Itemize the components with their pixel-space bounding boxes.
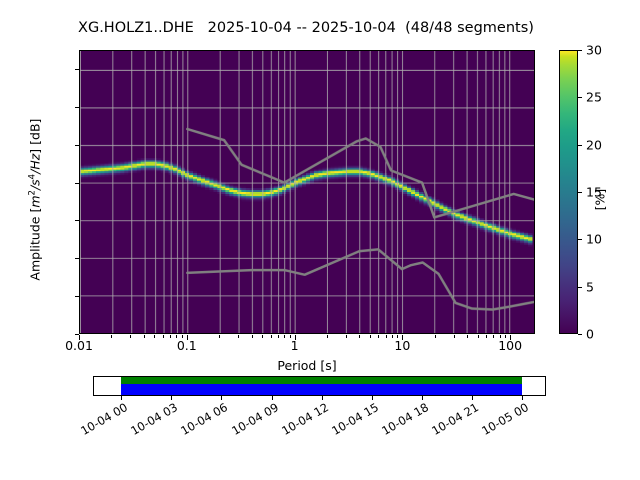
x-minor-tick	[386, 335, 387, 338]
timeline-tick-label: 10-04 09	[223, 400, 280, 441]
data-coverage-blue	[121, 384, 522, 395]
x-minor-tick	[435, 335, 436, 338]
data-coverage-timeline[interactable]	[93, 376, 546, 396]
timeline-tick-mark	[221, 396, 222, 400]
x-minor-tick	[163, 335, 164, 338]
timeline-tick-mark	[121, 396, 122, 400]
timeline-tick-label: 10-04 15	[324, 400, 381, 441]
colorbar-tick-mark	[578, 334, 582, 335]
x-minor-tick	[130, 335, 131, 338]
x-minor-tick	[392, 335, 393, 338]
x-minor-tick	[378, 335, 379, 338]
timeline-tick-mark	[171, 396, 172, 400]
x-minor-tick	[278, 335, 279, 338]
x-minor-tick	[182, 335, 183, 338]
timeline-tick-mark	[422, 396, 423, 400]
colorbar-tick-mark	[578, 145, 582, 146]
x-minor-tick	[359, 335, 360, 338]
colorbar-label: [%]	[593, 160, 608, 240]
x-tick-label: 0.01	[65, 338, 93, 353]
y-tick-mark	[75, 183, 79, 184]
x-minor-tick	[154, 335, 155, 338]
y-tick-mark	[75, 145, 79, 146]
x-minor-tick	[397, 335, 398, 338]
timeline-tick-label: 10-04 21	[424, 400, 481, 441]
colorbar-tick-mark	[578, 239, 582, 240]
data-coverage-green	[121, 377, 522, 384]
y-tick-mark	[75, 107, 79, 108]
x-tick-label: 1	[291, 338, 299, 353]
timeline-tick-mark	[322, 396, 323, 400]
x-minor-tick	[238, 335, 239, 338]
x-minor-tick	[262, 335, 263, 338]
timeline-tick-label: 10-04 03	[123, 400, 180, 441]
y-tick-mark	[75, 220, 79, 221]
x-minor-tick	[505, 335, 506, 338]
x-minor-tick	[290, 335, 291, 338]
y-axis-label: Amplitude [m2/s4/Hz] [dB]	[27, 70, 42, 330]
ppsd-figure: XG.HOLZ1..DHE 2025-10-04 -- 2025-10-04 (…	[0, 0, 640, 480]
x-minor-tick	[252, 335, 253, 338]
timeline-tick-label: 10-04 12	[274, 400, 331, 441]
ppsd-heatmap-canvas	[80, 51, 534, 333]
x-minor-tick	[284, 335, 285, 338]
x-axis-label: Period [s]	[79, 358, 535, 373]
page-title: XG.HOLZ1..DHE 2025-10-04 -- 2025-10-04 (…	[0, 20, 612, 36]
colorbar-tick-mark	[578, 50, 582, 51]
colorbar-tick-label: 25	[586, 90, 602, 105]
colorbar-tick-label: 20	[586, 137, 602, 152]
x-minor-tick	[271, 335, 272, 338]
x-minor-tick	[370, 335, 371, 338]
x-tick-label: 10	[394, 338, 410, 353]
y-tick-mark	[75, 69, 79, 70]
y-tick-mark	[75, 258, 79, 259]
colorbar-tick-mark	[578, 97, 582, 98]
timeline-tick-mark	[272, 396, 273, 400]
colorbar-tick-label: 30	[586, 43, 602, 58]
timeline-tick-mark	[472, 396, 473, 400]
x-minor-tick	[493, 335, 494, 338]
x-minor-tick	[111, 335, 112, 338]
x-tick-label: 100	[498, 338, 522, 353]
x-minor-tick	[467, 335, 468, 338]
x-minor-tick	[486, 335, 487, 338]
x-minor-tick	[500, 335, 501, 338]
x-minor-tick	[327, 335, 328, 338]
x-minor-tick	[346, 335, 347, 338]
timeline-tick-label: 10-05 00	[474, 400, 531, 441]
timeline-tick-label: 10-04 00	[73, 400, 130, 441]
colorbar-tick-mark	[578, 192, 582, 193]
ppsd-plot-area[interactable]	[79, 50, 535, 334]
timeline-tick-mark	[372, 396, 373, 400]
colorbar-tick-mark	[578, 287, 582, 288]
timeline-tick-label: 10-04 06	[173, 400, 230, 441]
y-tick-mark	[75, 296, 79, 297]
x-minor-tick	[454, 335, 455, 338]
colorbar-tick-label: 5	[586, 279, 594, 294]
timeline-tick-mark	[522, 396, 523, 400]
colorbar	[559, 50, 578, 334]
x-tick-label: 0.1	[177, 338, 197, 353]
x-minor-tick	[144, 335, 145, 338]
timeline-tick-label: 10-04 18	[374, 400, 431, 441]
x-minor-tick	[478, 335, 479, 338]
x-minor-tick	[170, 335, 171, 338]
x-minor-tick	[219, 335, 220, 338]
x-minor-tick	[176, 335, 177, 338]
colorbar-tick-label: 0	[586, 327, 594, 342]
